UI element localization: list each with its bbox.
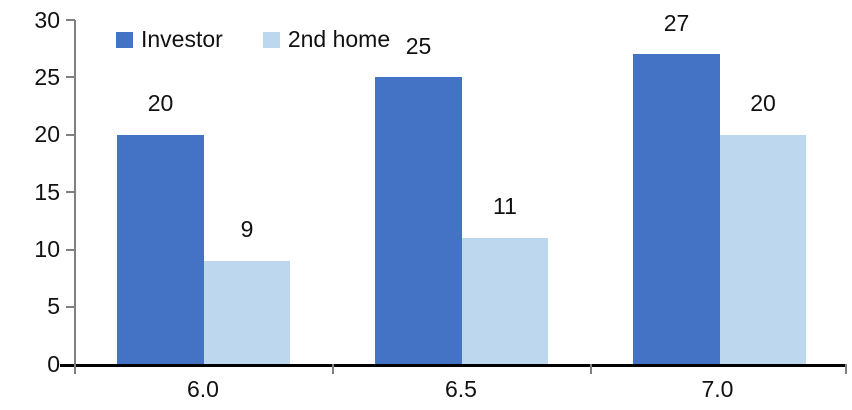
x-axis-label-6-5: 6.5 bbox=[332, 378, 590, 401]
x-axis-label-6-0: 6.0 bbox=[74, 378, 332, 401]
y-tick-10 bbox=[66, 249, 75, 251]
legend-item-investor[interactable]: Investor bbox=[116, 28, 223, 51]
x-tick-end bbox=[845, 364, 847, 374]
plot-area bbox=[75, 20, 845, 364]
x-axis-line bbox=[60, 364, 845, 367]
bar-investor-6-0[interactable] bbox=[117, 135, 204, 364]
data-label-2nd-home-7-0: 20 bbox=[720, 92, 806, 115]
y-tick-5 bbox=[66, 306, 75, 308]
data-label-investor-6-0: 20 bbox=[117, 92, 204, 115]
y-axis-label-25: 25 bbox=[0, 66, 60, 89]
y-axis-label-0: 0 bbox=[0, 353, 60, 376]
y-axis-label-30: 30 bbox=[0, 9, 60, 32]
chart-legend: Investor 2nd home bbox=[116, 28, 390, 51]
y-axis-label-15: 15 bbox=[0, 181, 60, 204]
y-tick-15 bbox=[66, 191, 75, 193]
legend-label-investor: Investor bbox=[141, 28, 223, 51]
bar-investor-6-5[interactable] bbox=[375, 77, 462, 364]
bar-investor-7-0[interactable] bbox=[633, 54, 720, 364]
bar-2nd-home-6-5[interactable] bbox=[462, 238, 548, 364]
x-axis-label-7-0: 7.0 bbox=[590, 378, 845, 401]
legend-swatch-icon-investor bbox=[116, 32, 133, 48]
x-tick-6-5-end bbox=[590, 364, 592, 374]
legend-item-2nd-home[interactable]: 2nd home bbox=[263, 28, 390, 51]
y-tick-30 bbox=[66, 19, 75, 21]
y-axis-label-5: 5 bbox=[0, 295, 60, 318]
legend-label-2nd-home: 2nd home bbox=[288, 28, 390, 51]
data-label-2nd-home-6-5: 11 bbox=[462, 195, 548, 218]
y-axis-label-20: 20 bbox=[0, 123, 60, 146]
y-tick-25 bbox=[66, 76, 75, 78]
bar-chart: 30 25 20 15 10 5 0 6.0 6.5 7.0 bbox=[0, 0, 852, 410]
data-label-2nd-home-6-0: 9 bbox=[204, 218, 290, 241]
bar-2nd-home-7-0[interactable] bbox=[720, 135, 806, 364]
data-label-investor-7-0: 27 bbox=[633, 12, 720, 35]
x-tick-6-0-end bbox=[332, 364, 334, 374]
x-tick-start bbox=[74, 364, 76, 374]
bar-2nd-home-6-0[interactable] bbox=[204, 261, 290, 364]
y-axis-label-10: 10 bbox=[0, 238, 60, 261]
y-tick-20 bbox=[66, 134, 75, 136]
legend-swatch-icon-2nd-home bbox=[263, 32, 280, 48]
